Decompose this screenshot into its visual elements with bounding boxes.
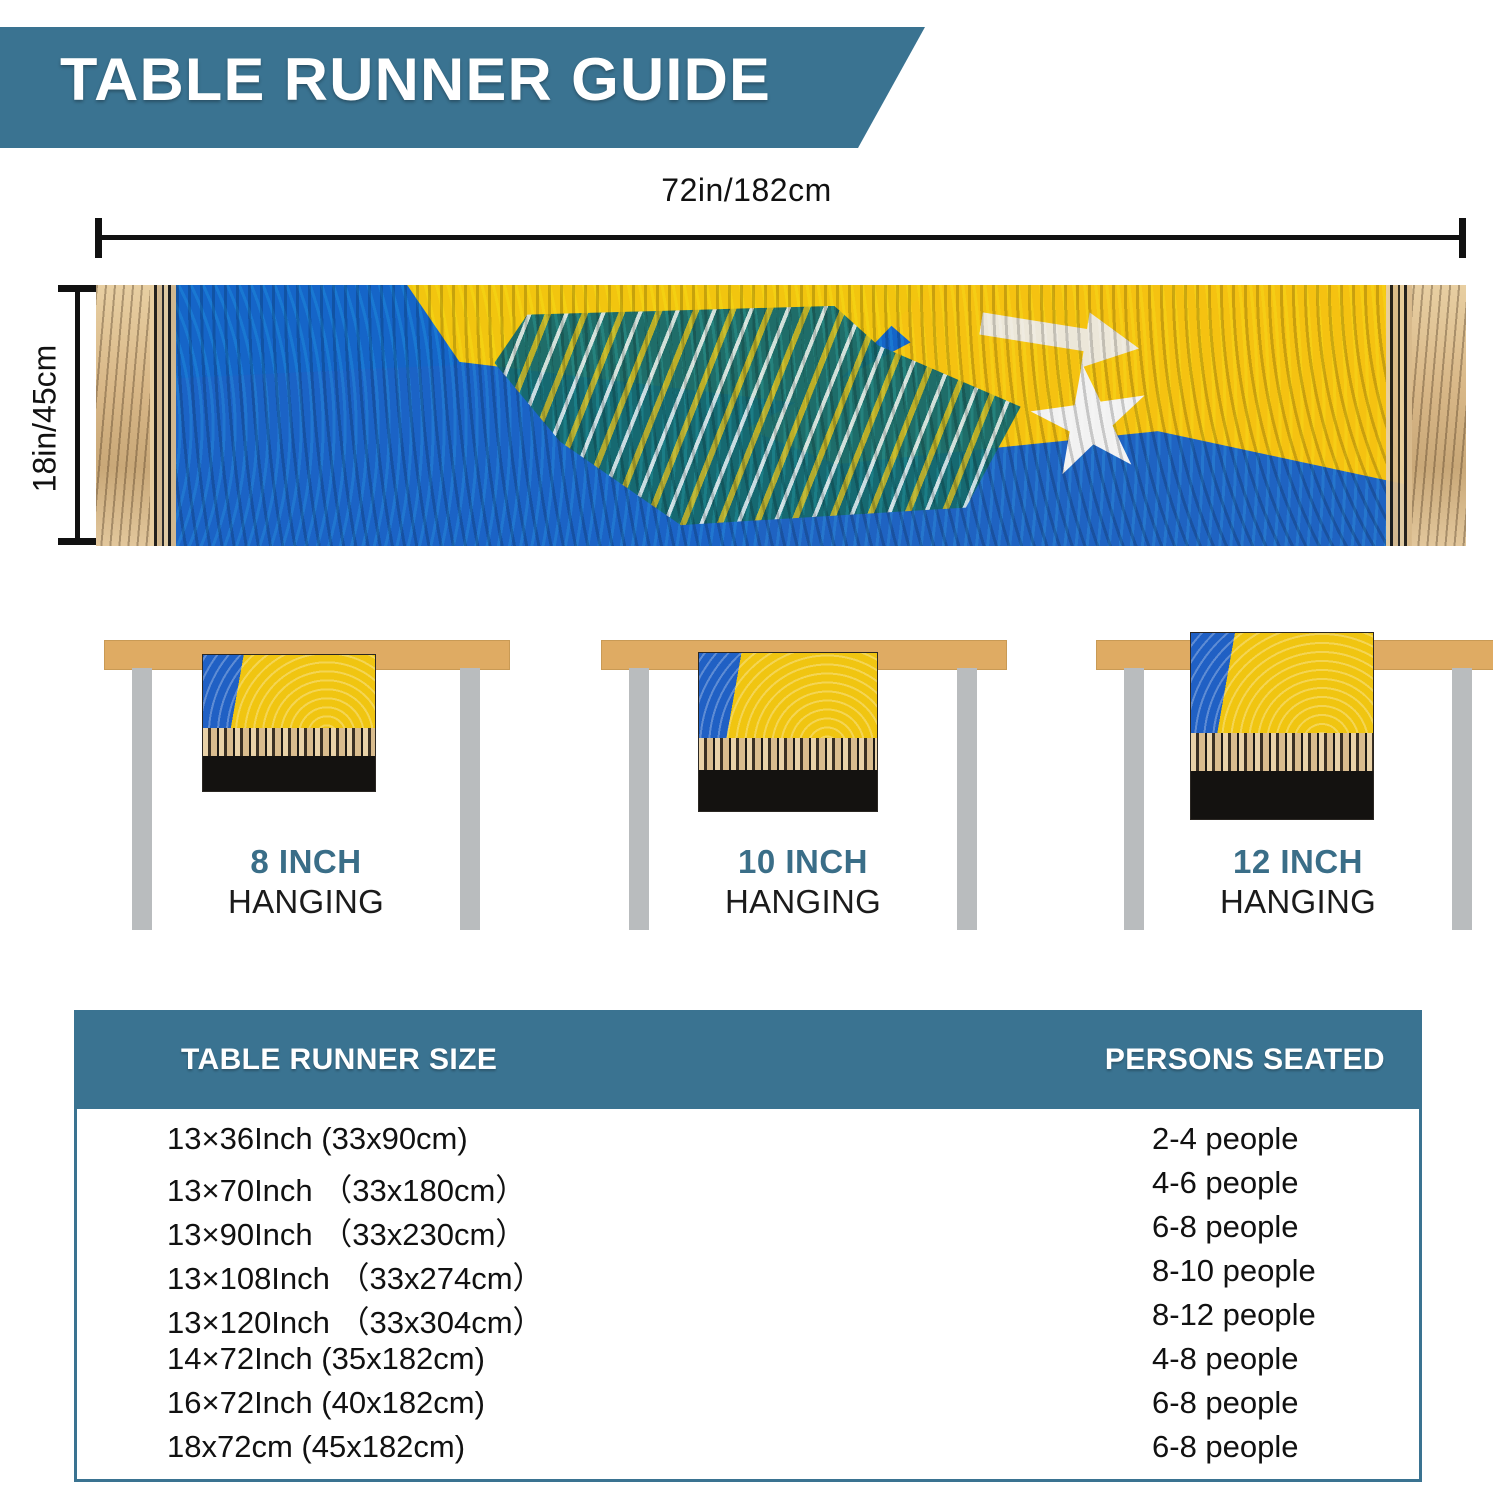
cell-runner-size: 13×36Inch (33x90cm): [167, 1121, 468, 1157]
height-dimension-label: 18in/45cm: [27, 304, 64, 534]
table-row: 13×70Inch （33x180cm）4-6 people: [77, 1165, 1419, 1209]
cell-persons-seated: 4-8 people: [1152, 1341, 1299, 1377]
size-table-body: 13×36Inch (33x90cm)2-4 people13×70Inch （…: [77, 1109, 1419, 1479]
hanging-figure-caption: 8 INCH HANGING: [96, 843, 516, 921]
cell-runner-size: 16×72Inch (40x182cm): [167, 1385, 485, 1421]
wood-fragment-edge-right: [1386, 285, 1412, 546]
wood-fragment-edge-left: [150, 285, 176, 546]
width-dimension-line: [95, 218, 1466, 258]
distressed-wood-edge-left: [96, 285, 158, 546]
dimension-end-cap-left: [95, 218, 102, 258]
table-row: 13×108Inch （33x274cm）8-10 people: [77, 1253, 1419, 1297]
hanging-figure-caption: 10 INCH HANGING: [593, 843, 1013, 921]
table-row: 13×36Inch (33x90cm)2-4 people: [77, 1121, 1419, 1165]
dimension-end-cap-top: [58, 285, 98, 292]
table-row: 16×72Inch (40x182cm)6-8 people: [77, 1385, 1419, 1429]
size-table: TABLE RUNNER SIZE PERSONS SEATED 13×36In…: [74, 1010, 1422, 1482]
hanging-inch-label: 10 INCH: [593, 843, 1013, 881]
cell-runner-size: 13×90Inch （33x230cm）: [167, 1209, 526, 1254]
table-row: 13×90Inch （33x230cm）6-8 people: [77, 1209, 1419, 1253]
runner-print-top: [699, 653, 877, 738]
column-header-size: TABLE RUNNER SIZE: [181, 1043, 497, 1077]
table-row: 14×72Inch (35x182cm)4-8 people: [77, 1341, 1419, 1385]
distressed-wood-edge-right: [1404, 285, 1466, 546]
size-table-header: TABLE RUNNER SIZE PERSONS SEATED: [77, 1013, 1419, 1109]
cell-persons-seated: 6-8 people: [1152, 1209, 1299, 1245]
cell-persons-seated: 2-4 people: [1152, 1121, 1299, 1157]
draped-runner: [698, 652, 878, 812]
cell-persons-seated: 6-8 people: [1152, 1429, 1299, 1465]
runner-wood-band: [203, 728, 375, 755]
runner-black-band: [699, 770, 877, 811]
hanging-word-label: HANGING: [96, 883, 516, 921]
cell-persons-seated: 6-8 people: [1152, 1385, 1299, 1421]
cell-runner-size: 18x72cm (45x182cm): [167, 1429, 465, 1465]
cell-persons-seated: 8-10 people: [1152, 1253, 1316, 1289]
ring-texture-right: [158, 285, 1404, 546]
draped-runner: [1190, 632, 1374, 820]
cell-persons-seated: 4-6 people: [1152, 1165, 1299, 1201]
column-header-persons: PERSONS SEATED: [1105, 1043, 1385, 1077]
cell-runner-size: 13×108Inch （33x274cm）: [167, 1253, 544, 1298]
cell-runner-size: 13×120Inch （33x304cm）: [167, 1297, 544, 1342]
dimension-end-cap-right: [1459, 218, 1466, 258]
runner-black-band: [1191, 771, 1373, 819]
runner-wood-band: [699, 738, 877, 770]
hanging-figure-8-inch: 8 INCH HANGING: [96, 640, 516, 960]
runner-print-field: [158, 285, 1404, 546]
hanging-figure-12-inch: 12 INCH HANGING: [1088, 640, 1493, 960]
cell-runner-size: 14×72Inch (35x182cm): [167, 1341, 485, 1377]
cell-persons-seated: 8-12 people: [1152, 1297, 1316, 1333]
page-title: TABLE RUNNER GUIDE: [60, 45, 771, 114]
height-dimension-line: [58, 285, 98, 545]
dimension-bar: [75, 285, 80, 545]
cell-runner-size: 13×70Inch （33x180cm）: [167, 1165, 526, 1210]
runner-print-top: [1191, 633, 1373, 733]
hanging-inch-label: 12 INCH: [1088, 843, 1493, 881]
width-dimension-label: 72in/182cm: [0, 172, 1493, 209]
hanging-figure-caption: 12 INCH HANGING: [1088, 843, 1493, 921]
runner-artwork: [96, 285, 1466, 546]
hanging-word-label: HANGING: [593, 883, 1013, 921]
dimension-end-cap-bottom: [58, 538, 98, 545]
dimension-bar: [95, 235, 1466, 240]
hanging-inch-label: 8 INCH: [96, 843, 516, 881]
runner-print-top: [203, 655, 375, 728]
product-runner-image: [96, 285, 1466, 546]
table-row: 13×120Inch （33x304cm）8-12 people: [77, 1297, 1419, 1341]
hanging-word-label: HANGING: [1088, 883, 1493, 921]
runner-black-band: [203, 756, 375, 791]
hanging-figure-10-inch: 10 INCH HANGING: [593, 640, 1013, 960]
table-row: 18x72cm (45x182cm)6-8 people: [77, 1429, 1419, 1473]
runner-wood-band: [1191, 733, 1373, 770]
draped-runner: [202, 654, 376, 792]
